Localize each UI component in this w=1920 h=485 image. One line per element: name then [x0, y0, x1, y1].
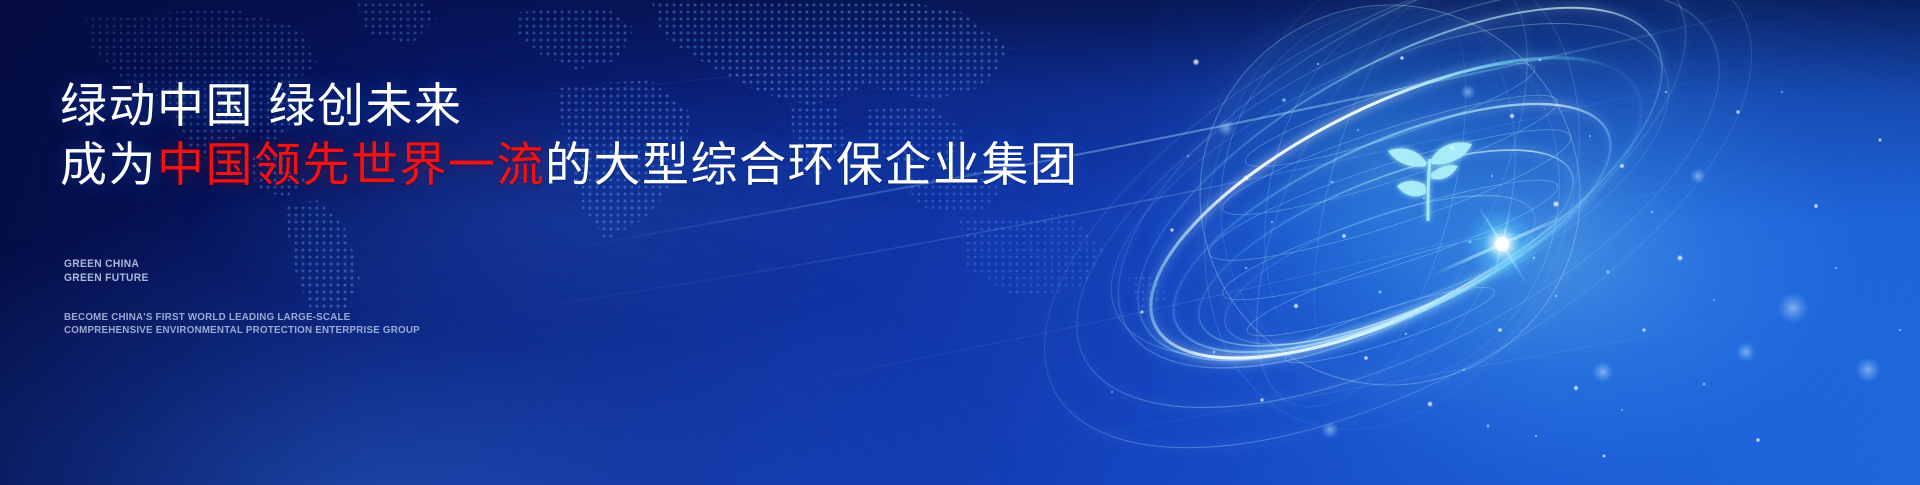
headline-line-2-prefix: 成为: [60, 138, 157, 191]
headline: 绿动中国 绿创未来 成为中国领先世界一流的大型综合环保企业集团: [60, 77, 1040, 193]
subtitle-english-line-2: GREEN FUTURE: [64, 272, 149, 286]
sprout-icon: [1381, 133, 1477, 225]
globe-graphic: [1080, 0, 1920, 485]
hero-banner: 绿动中国 绿创未来 成为中国领先世界一流的大型综合环保企业集团 GREEN CH…: [0, 0, 1920, 485]
subtitle-english-line-1: GREEN CHINA: [64, 258, 149, 272]
text-block: 绿动中国 绿创未来 成为中国领先世界一流的大型综合环保企业集团 GREEN CH…: [60, 0, 1060, 485]
tagline-english-line-2: COMPREHENSIVE ENVIRONMENTAL PROTECTION E…: [64, 324, 420, 337]
subtitle-english: GREEN CHINA GREEN FUTURE: [64, 258, 155, 285]
headline-line-2: 成为中国领先世界一流的大型综合环保企业集团: [60, 136, 1040, 193]
headline-line-2-suffix: 的大型综合环保企业集团: [545, 138, 1079, 191]
headline-line-2-highlight: 中国领先世界一流: [157, 138, 545, 191]
tagline-english: BECOME CHINA'S FIRST WORLD LEADING LARGE…: [64, 311, 447, 337]
headline-line-1: 绿动中国 绿创未来: [60, 77, 1040, 134]
tagline-english-line-1: BECOME CHINA'S FIRST WORLD LEADING LARGE…: [64, 311, 420, 324]
